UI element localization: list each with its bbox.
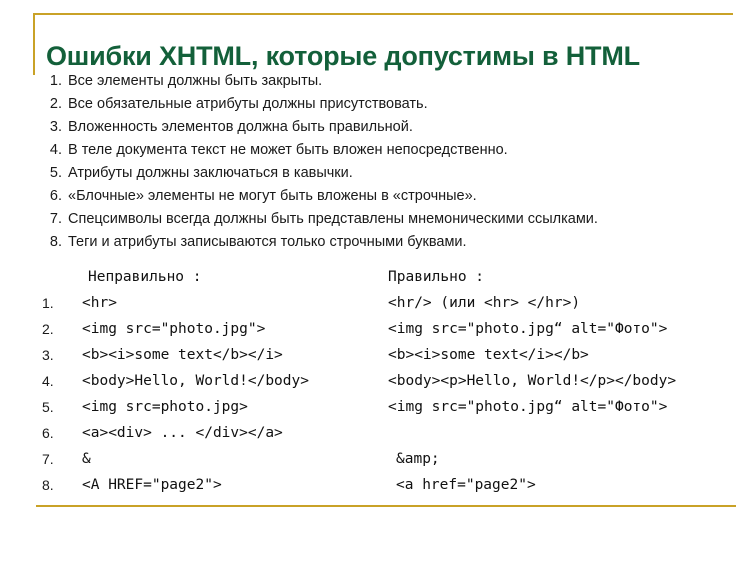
row-number: 3. — [42, 342, 62, 368]
table-row: 4. <body>Hello, World!</body> <body><p>H… — [0, 368, 750, 394]
list-item-label: Теги и атрибуты записываются только стро… — [68, 231, 467, 254]
list-item-number: 7. — [42, 208, 62, 231]
list-item: 6. «Блочные» элементы не могут быть влож… — [0, 185, 750, 208]
list-item-number: 1. — [42, 70, 62, 93]
row-number: 4. — [42, 368, 62, 394]
list-item: 8. Теги и атрибуты записываются только с… — [0, 231, 750, 254]
requirements-list: 1. Все элементы должны быть закрыты. 2. … — [0, 70, 750, 254]
cell-wrong: <img src="photo.jpg"> — [82, 316, 265, 342]
title-left-rule — [33, 13, 35, 75]
row-number: 2. — [42, 316, 62, 342]
list-item-number: 8. — [42, 231, 62, 254]
row-number: 1. — [42, 290, 62, 316]
row-number: 7. — [42, 446, 62, 472]
cell-right: &amp; — [396, 446, 440, 472]
list-item-label: В теле документа текст не может быть вло… — [68, 139, 508, 162]
list-item-label: Атрибуты должны заключаться в кавычки. — [68, 162, 353, 185]
table-row: 1. <hr> <hr/> (или <hr> </hr>) — [0, 290, 750, 316]
code-comparison-table: Неправильно : Правильно : 1. <hr> <hr/> … — [0, 264, 750, 498]
table-row: 8. <A HREF="page2"> <a href="page2"> — [0, 472, 750, 498]
list-item: 4. В теле документа текст не может быть … — [0, 139, 750, 162]
bottom-rule — [36, 505, 736, 507]
list-item-label: Спецсимволы всегда должны быть представл… — [68, 208, 598, 231]
cell-wrong: & — [82, 446, 91, 472]
list-item: 2. Все обязательные атрибуты должны прис… — [0, 93, 750, 116]
list-item-label: Все обязательные атрибуты должны присутс… — [68, 93, 428, 116]
list-item-number: 3. — [42, 116, 62, 139]
title-top-rule — [33, 13, 733, 15]
table-header-row: Неправильно : Правильно : — [0, 264, 750, 290]
table-row: 7. & &amp; — [0, 446, 750, 472]
page-title: Ошибки XHTML, которые допустимы в HTML — [46, 40, 726, 72]
list-item-number: 2. — [42, 93, 62, 116]
cell-wrong: <body>Hello, World!</body> — [82, 368, 309, 394]
list-item-number: 4. — [42, 139, 62, 162]
cell-right: <img src="photo.jpg“ alt="Фото"> — [388, 394, 667, 420]
list-item-number: 6. — [42, 185, 62, 208]
cell-wrong: <b><i>some text</b></i> — [82, 342, 283, 368]
table-row: 5. <img src=photo.jpg> <img src="photo.j… — [0, 394, 750, 420]
column-header-right: Правильно : — [388, 264, 484, 290]
row-number: 5. — [42, 394, 62, 420]
cell-right: <hr/> (или <hr> </hr>) — [388, 290, 580, 316]
list-item: 7. Спецсимволы всегда должны быть предст… — [0, 208, 750, 231]
cell-right: <b><i>some text</i></b> — [388, 342, 589, 368]
list-item: 1. Все элементы должны быть закрыты. — [0, 70, 750, 93]
cell-wrong: <hr> — [82, 290, 117, 316]
cell-wrong: <img src=photo.jpg> — [82, 394, 248, 420]
table-row: 2. <img src="photo.jpg"> <img src="photo… — [0, 316, 750, 342]
cell-right: <img src="photo.jpg“ alt="Фото"> — [388, 316, 667, 342]
column-header-wrong: Неправильно : — [88, 264, 202, 290]
list-item: 5. Атрибуты должны заключаться в кавычки… — [0, 162, 750, 185]
cell-right: <body><p>Hello, World!</p></body> — [388, 368, 676, 394]
cell-right: <a href="page2"> — [396, 472, 536, 498]
list-item-label: Вложенность элементов должна быть правил… — [68, 116, 413, 139]
table-row: 3. <b><i>some text</b></i> <b><i>some te… — [0, 342, 750, 368]
list-item-number: 5. — [42, 162, 62, 185]
list-item-label: «Блочные» элементы не могут быть вложены… — [68, 185, 477, 208]
list-item: 3. Вложенность элементов должна быть пра… — [0, 116, 750, 139]
list-item-label: Все элементы должны быть закрыты. — [68, 70, 322, 93]
row-number: 8. — [42, 472, 62, 498]
slide-canvas: Ошибки XHTML, которые допустимы в HTML 1… — [0, 0, 750, 561]
table-row: 6. <a><div> ... </div></a> — [0, 420, 750, 446]
row-number: 6. — [42, 420, 62, 446]
cell-wrong: <a><div> ... </div></a> — [82, 420, 283, 446]
cell-wrong: <A HREF="page2"> — [82, 472, 222, 498]
